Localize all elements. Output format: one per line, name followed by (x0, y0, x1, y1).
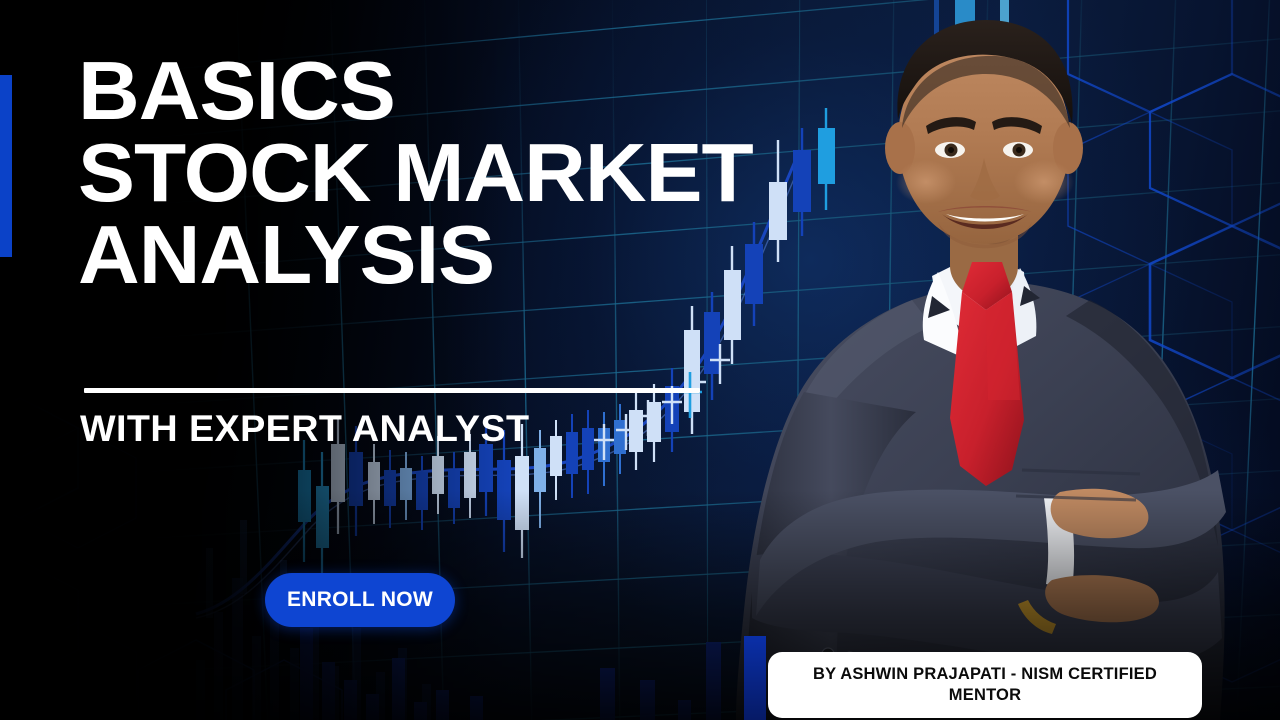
page-title: BASICS STOCK MARKET ANALYSIS (78, 50, 799, 296)
left-accent-bar (0, 75, 12, 257)
title-divider (84, 388, 700, 393)
subtitle: WITH EXPERT ANALYST (80, 408, 529, 450)
enroll-now-button[interactable]: ENROLL NOW (265, 573, 455, 627)
title-line-3: ANALYSIS (78, 214, 799, 296)
presenter-credit-banner: By ASHWIN PRAJAPATI - NISM CERTIFIED MEN… (768, 652, 1202, 718)
credit-accent-bar (744, 636, 766, 720)
presenter-credit-text: By ASHWIN PRAJAPATI - NISM CERTIFIED MEN… (784, 664, 1186, 705)
course-promo-poster: BASICS STOCK MARKET ANALYSIS WITH EXPERT… (0, 0, 1280, 720)
title-line-1: BASICS (78, 50, 799, 132)
head (885, 20, 1083, 248)
title-line-2: STOCK MARKET (78, 132, 799, 214)
